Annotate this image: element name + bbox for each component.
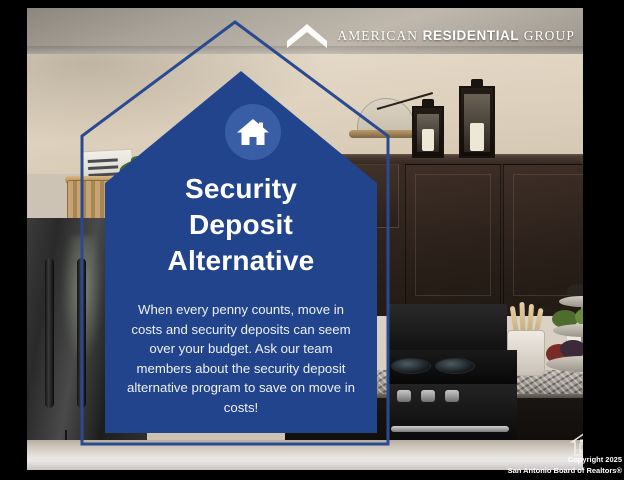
lantern-small	[412, 106, 444, 158]
brand-name: AMERICAN RESIDENTIAL GROUP	[337, 28, 575, 44]
promo-body-text: When every penny counts, move in costs a…	[123, 300, 359, 417]
cabinet-door	[405, 164, 501, 306]
range-knobs	[393, 390, 513, 404]
range-backguard	[387, 304, 507, 352]
brand-word-residential: RESIDENTIAL	[423, 28, 520, 43]
headline-line-1: Security	[115, 171, 367, 207]
house-badge	[225, 104, 281, 160]
range-burner	[391, 358, 431, 374]
lantern-cap	[422, 99, 434, 108]
headline-line-3: Alternative	[115, 243, 367, 279]
range-knob	[397, 390, 411, 402]
headline-line-2: Deposit	[115, 207, 367, 243]
copyright-notice: Copyright 2025 San Antonio Board of Real…	[508, 455, 622, 477]
refrigerator-handle	[77, 258, 86, 408]
page-title: Security Deposit Alternative	[115, 171, 367, 278]
candle	[470, 123, 484, 151]
chevron-roof-icon	[286, 23, 328, 49]
copyright-line-1: Copyright 2025	[508, 455, 622, 466]
lantern-cap	[471, 79, 483, 88]
copyright-line-2: San Antonio Board of Realtors®	[508, 466, 622, 477]
oven-handle	[391, 426, 509, 432]
brand-logo: AMERICAN RESIDENTIAL GROUP	[286, 22, 575, 50]
brand-word-american: AMERICAN	[337, 28, 422, 43]
candle	[422, 129, 434, 151]
screenshot-frame: Security Deposit Alternative When every …	[0, 0, 624, 480]
kitchen-photo: Security Deposit Alternative When every …	[27, 8, 583, 470]
window-sill-lower	[27, 460, 583, 470]
refrigerator-handle	[45, 258, 54, 408]
lantern-large	[459, 86, 495, 158]
range-burner	[435, 358, 475, 374]
brand-word-group: GROUP	[519, 28, 575, 43]
range-knob	[421, 390, 435, 402]
range-knob	[445, 390, 459, 402]
house-icon	[236, 117, 270, 147]
